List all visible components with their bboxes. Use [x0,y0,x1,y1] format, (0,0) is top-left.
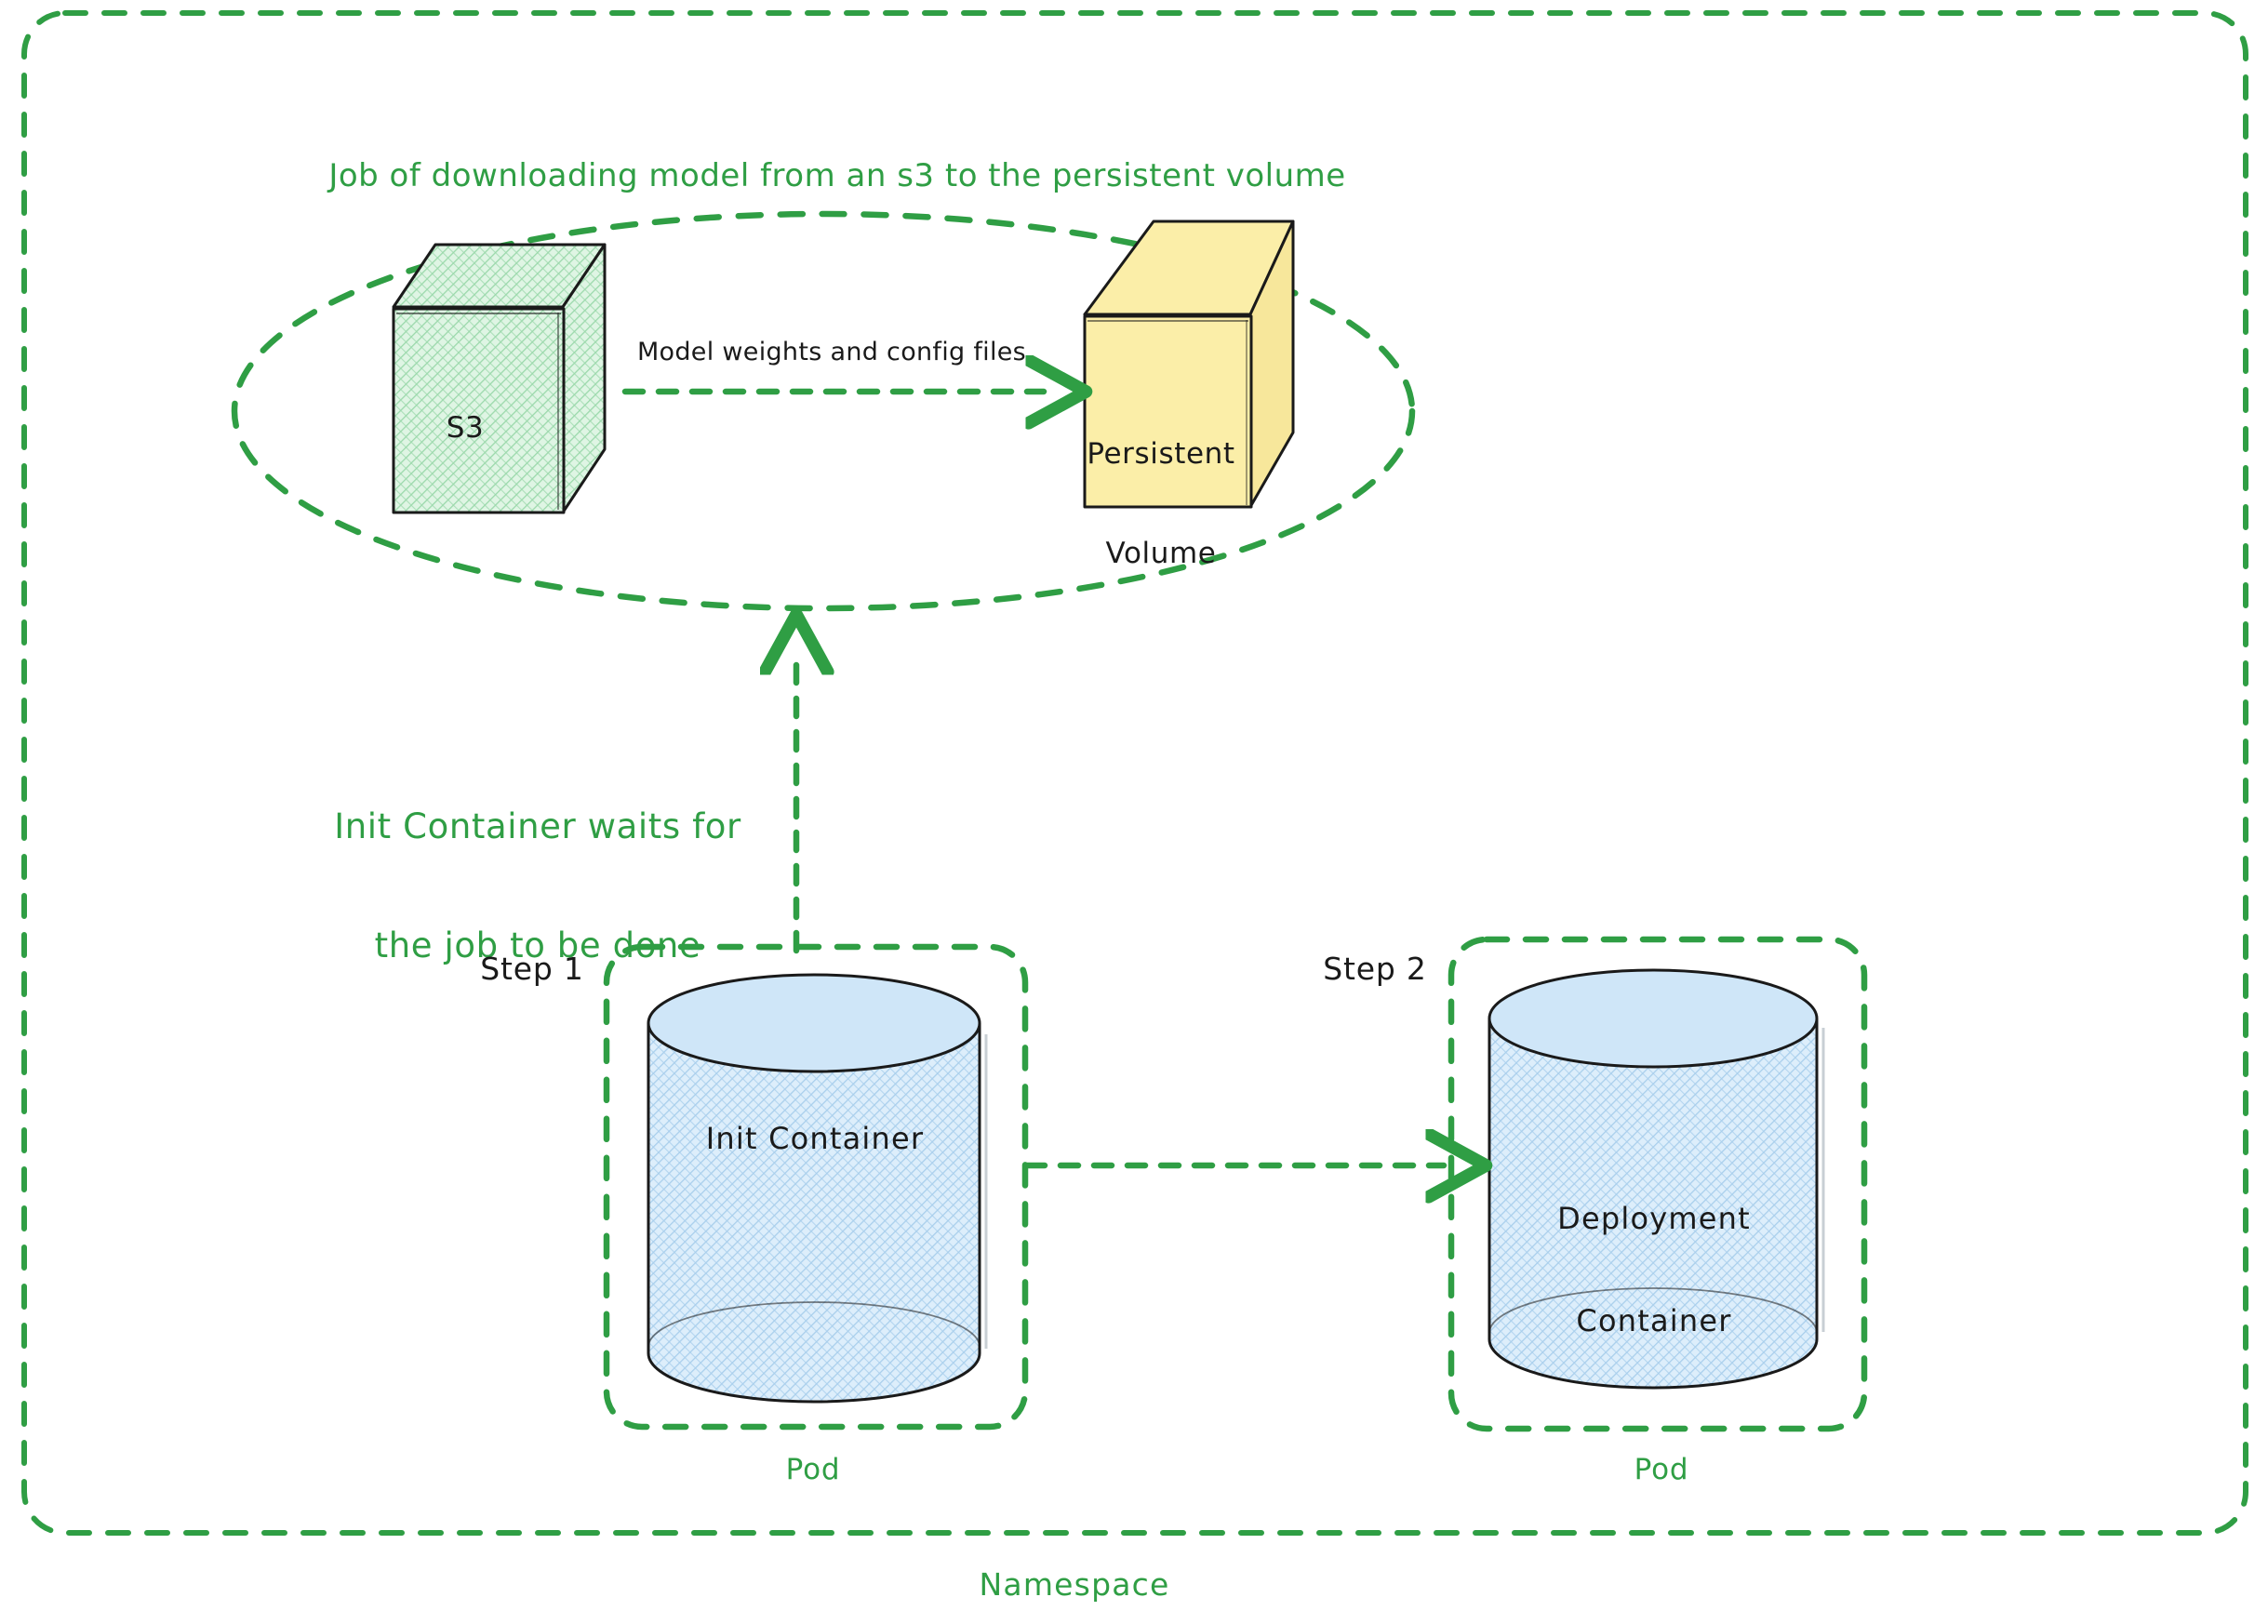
namespace-label: Namespace [980,1567,1170,1603]
s3-cube-label: S3 [447,412,485,446]
model-transfer-edge-label: Model weights and config files [637,338,1026,366]
step-1-label: Step 1 [480,952,583,987]
pod-2-label: Pod [1634,1454,1689,1487]
pod-1-label: Pod [786,1454,841,1487]
job-group-title: Job of downloading model from an s3 to t… [328,158,1345,194]
init-container-label: Init Container [706,1122,925,1156]
persistent-volume-label-line1: Persistent [1087,438,1234,472]
deployment-container-label-line1: Deployment [1557,1202,1751,1236]
s3-cube-shape [394,245,605,512]
persistent-volume-cube-label: Persistent Volume [1087,372,1234,637]
deployment-container-label: Deployment Container [1557,1133,1751,1406]
deployment-container-label-line2: Container [1557,1304,1751,1338]
persistent-volume-label-line2: Volume [1087,538,1234,571]
diagram-canvas: Job of downloading model from an s3 to t… [0,0,2268,1624]
init-wait-label-line1: Init Container waits for [334,807,741,847]
init-wait-edge-label: Init Container waits for the job to be d… [334,728,741,1045]
step-2-label: Step 2 [1323,952,1426,987]
